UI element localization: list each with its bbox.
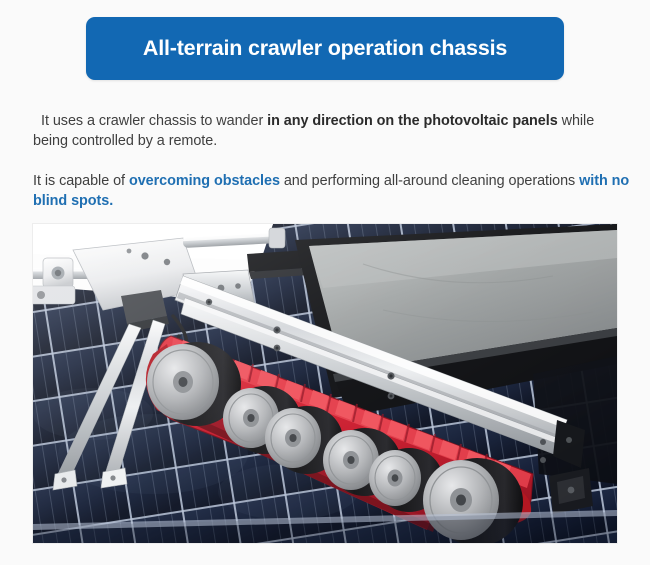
crawler-chassis-illustration bbox=[33, 224, 617, 543]
paragraph-first-emphasis: in any direction on the photovoltaic pan… bbox=[267, 113, 558, 129]
paragraph-first-segment-1: It uses a crawler chassis to wander bbox=[41, 113, 267, 129]
paragraph-first: It uses a crawler chassis to wander in a… bbox=[33, 112, 633, 151]
paragraph-second: It is capable of overcoming obstacles an… bbox=[33, 172, 633, 211]
paragraph-second-segment-1: It is capable of bbox=[33, 173, 129, 189]
header-banner: All-terrain crawler operation chassis bbox=[86, 17, 564, 80]
product-photo bbox=[33, 224, 617, 543]
page-title: All-terrain crawler operation chassis bbox=[143, 37, 507, 61]
body-copy: It uses a crawler chassis to wander in a… bbox=[33, 112, 633, 211]
photo-glare-overlay bbox=[33, 224, 617, 543]
paragraph-second-segment-2: and performing all-around cleaning opera… bbox=[280, 173, 579, 189]
paragraph-second-emphasis-1: overcoming obstacles bbox=[129, 173, 280, 189]
header-banner-container: All-terrain crawler operation chassis bbox=[0, 17, 650, 80]
